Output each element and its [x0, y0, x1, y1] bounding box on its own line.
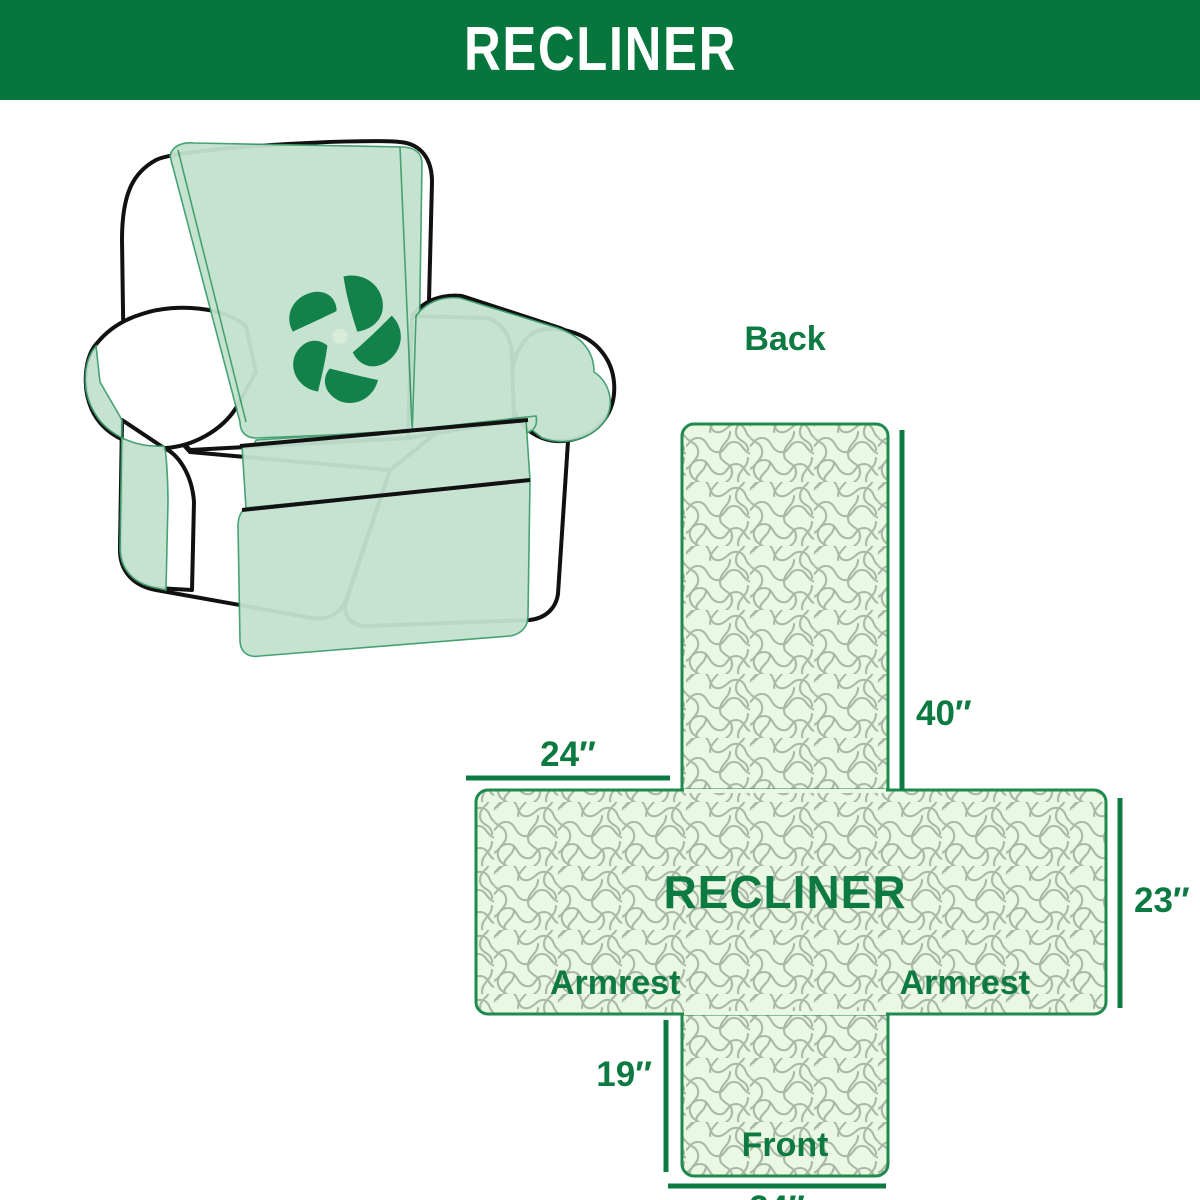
dimension-value-front-width: 24″	[749, 1189, 805, 1200]
dimension-value-front-height: 19″	[596, 1055, 652, 1094]
pattern-center-label: RECLINER	[663, 866, 906, 918]
pattern-diagram: Back Armrest Armrest Front RECLINER 40″ …	[430, 290, 1200, 1200]
dimension-front-height: 19″	[596, 1020, 666, 1172]
cover-pattern-shape	[476, 424, 1106, 1176]
page-header: RECLINER	[0, 0, 1200, 100]
dimension-value-back-height: 40″	[916, 694, 972, 733]
panel-label-armrest-right: Armrest	[900, 964, 1030, 1002]
page-title: RECLINER	[464, 19, 737, 81]
pattern-diagram-svg: Back Armrest Armrest Front RECLINER 40″ …	[430, 290, 1200, 1200]
dimension-value-seat-depth: 23″	[1134, 881, 1190, 920]
panel-label-back: Back	[744, 320, 825, 358]
dimension-seat-depth: 23″	[1120, 798, 1190, 1008]
diagram-stage: Back Armrest Armrest Front RECLINER 40″ …	[0, 100, 1200, 1200]
dimension-value-armrest-left-width: 24″	[540, 735, 596, 774]
panel-label-front: Front	[742, 1126, 829, 1164]
dimension-back-height: 40″	[902, 430, 972, 790]
panel-label-armrest-left: Armrest	[550, 964, 680, 1002]
dimension-armrest-left-width: 24″	[466, 735, 670, 778]
dimension-front-width: 24″	[668, 1186, 886, 1200]
